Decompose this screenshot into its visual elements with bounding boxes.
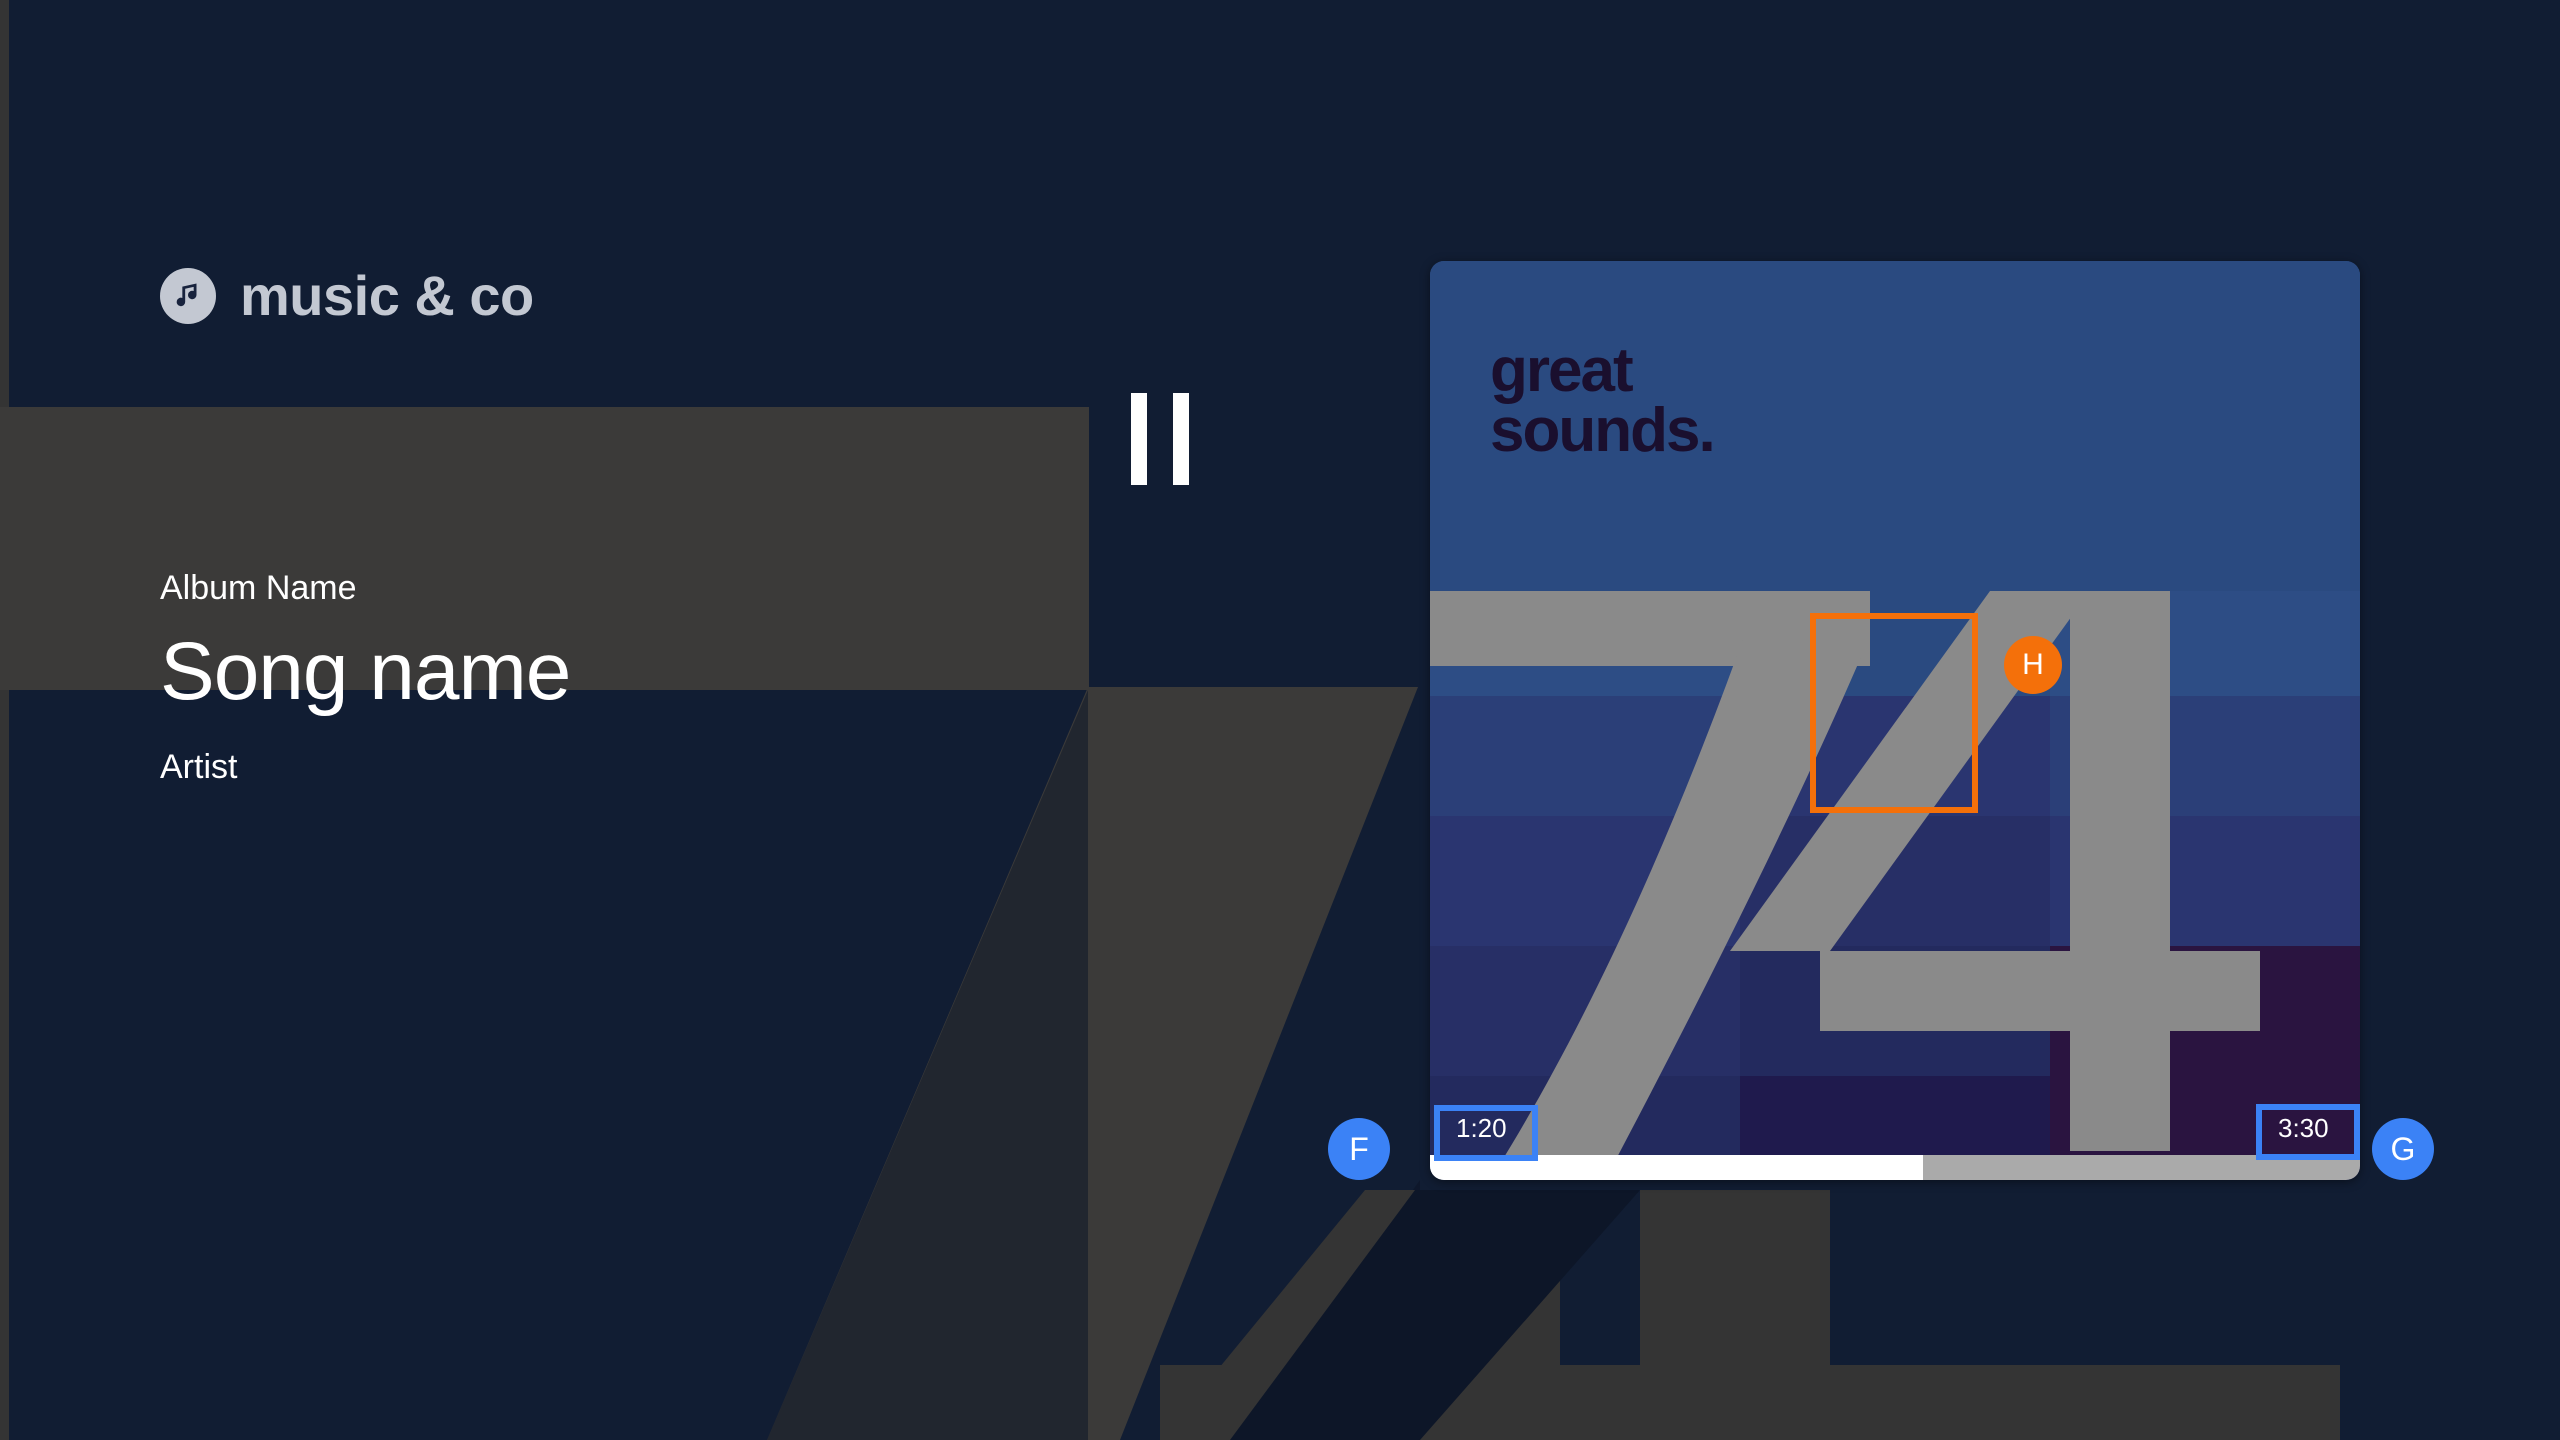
album-headline-line-2: sounds. (1490, 396, 1714, 465)
progress-bar-track[interactable] (1430, 1155, 2360, 1180)
album-name: Album Name (160, 570, 1060, 607)
album-art-headline: great sounds. (1490, 341, 1714, 460)
track-metadata: Album Name Song name Artist (160, 570, 1060, 787)
player-screen: music & co Album Name Song name Artist (0, 0, 2560, 1440)
pause-icon-bar-right (1173, 393, 1189, 485)
annotation-marker-f: F (1328, 1118, 1390, 1180)
annotation-marker-g: G (2372, 1118, 2434, 1180)
annotation-box-total-time (2256, 1104, 2360, 1160)
artist-name: Artist (160, 749, 1060, 786)
brand-logo[interactable]: music & co (160, 268, 534, 324)
music-note-icon (160, 268, 216, 324)
annotation-box-current-time (1434, 1105, 1538, 1161)
annotation-marker-h: H (2004, 636, 2062, 694)
annotation-box-pause (1810, 613, 1978, 813)
brand-name: music & co (240, 268, 534, 324)
pause-button[interactable] (1119, 383, 1201, 495)
pause-icon-bar-left (1131, 393, 1147, 485)
song-name: Song name (160, 631, 1060, 713)
